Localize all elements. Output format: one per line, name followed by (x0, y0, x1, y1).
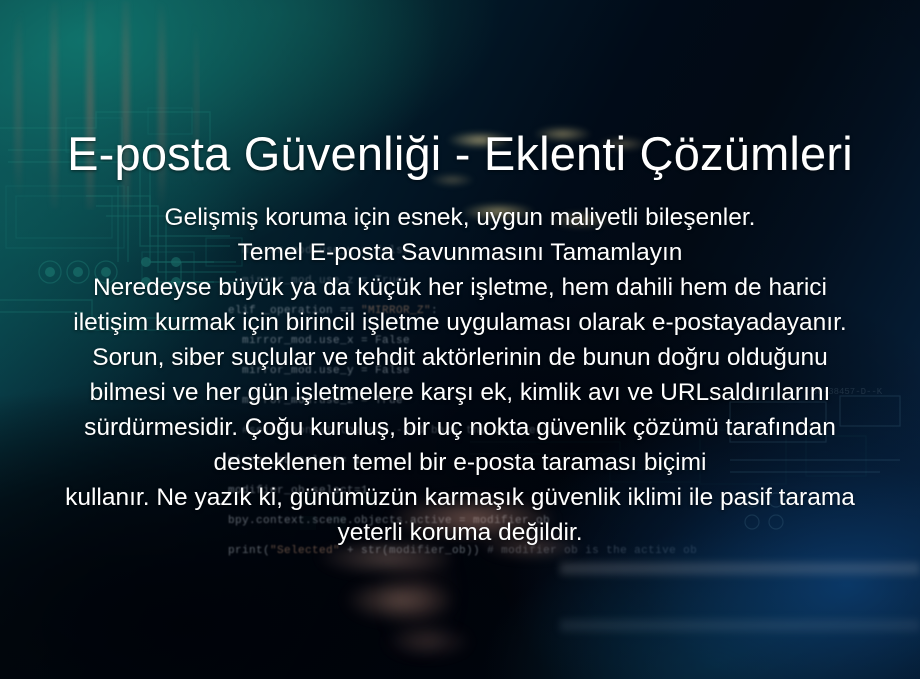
slide-content: E-posta Güvenliği - Eklenti Çözümleri Ge… (0, 0, 920, 679)
body-line: Temel E-posta Savunmasını Tamamlayın (28, 235, 892, 270)
body-line: bilmesi ve her gün işletmelere karşı ek,… (28, 375, 892, 410)
slide-title: E-posta Güvenliği - Eklenti Çözümleri (0, 129, 920, 178)
body-line: yeterli koruma değildir. (28, 515, 892, 550)
body-line: sürdürmesidir. Çoğu kuruluş, bir uç nokt… (28, 410, 892, 445)
body-line: iletişim kurmak için birincil işletme uy… (28, 305, 892, 340)
body-line: desteklenen temel bir e-posta taraması b… (28, 445, 892, 480)
slide-body: Gelişmiş koruma için esnek, uygun maliye… (28, 200, 892, 550)
body-line: kullanır. Ne yazık ki, günümüzün karmaşı… (28, 480, 892, 515)
presentation-slide: mirror_mod.use_y = False mirror_mod.use_… (0, 0, 920, 679)
body-line: Gelişmiş koruma için esnek, uygun maliye… (28, 200, 892, 235)
body-line: Neredeyse büyük ya da küçük her işletme,… (28, 270, 892, 305)
body-line: Sorun, siber suçlular ve tehdit aktörler… (28, 340, 892, 375)
